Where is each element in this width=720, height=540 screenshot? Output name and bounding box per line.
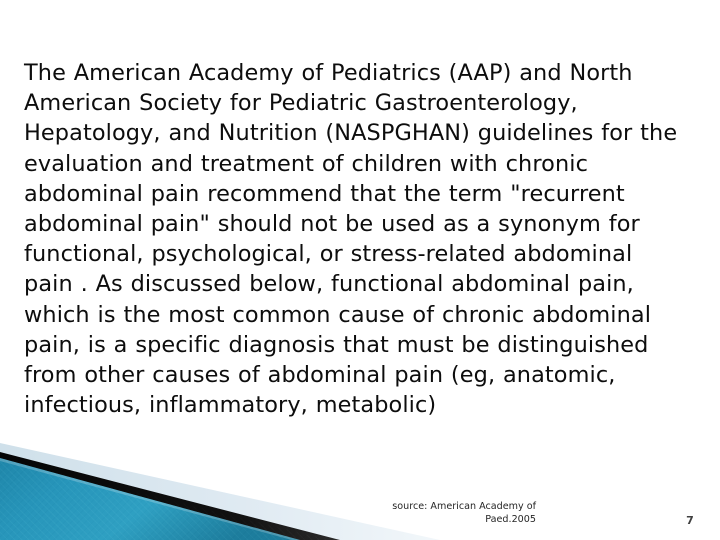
slide-page-number: 7 (680, 514, 700, 527)
slide-body-text: The American Academy of Pediatrics (AAP)… (24, 58, 688, 420)
ribbon-teal-highlight (0, 458, 300, 540)
slide-canvas: The American Academy of Pediatrics (AAP)… (0, 0, 720, 540)
ribbon-dark-stripe (0, 452, 340, 540)
ribbon-teal-wedge (0, 458, 300, 540)
ribbon-texture-overlay (0, 440, 330, 540)
ribbon-pale-band (0, 443, 440, 540)
source-citation: source: American Academy of Paed.2005 (376, 501, 536, 526)
